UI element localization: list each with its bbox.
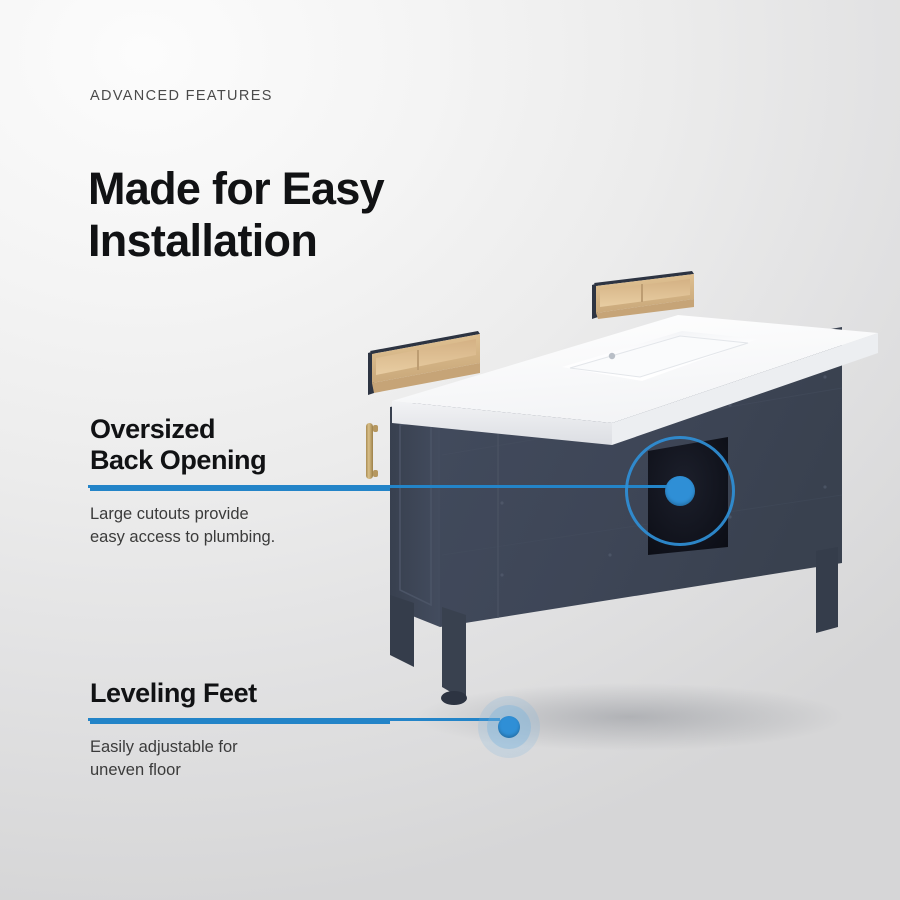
leg-back-right [816, 547, 838, 633]
callout-oversized-back-opening: Oversized Back Opening Large cutouts pro… [90, 414, 390, 549]
leveling-foot [441, 691, 467, 705]
infographic-canvas: ADVANCED FEATURES Made for Easy Installa… [0, 0, 900, 900]
callout-leveling-feet: Leveling Feet Easily adjustable for unev… [90, 678, 390, 782]
product-illustration [330, 255, 890, 775]
leg-front-left [390, 595, 414, 667]
callout-rule [90, 488, 390, 491]
marker-leveling-feet[interactable] [472, 690, 546, 764]
sink-overflow-hole [609, 353, 615, 359]
drawer-right [592, 271, 694, 319]
callout-title: Leveling Feet [90, 678, 390, 709]
eyebrow-label: ADVANCED FEATURES [90, 88, 273, 104]
callout-body: Easily adjustable for uneven floor [90, 736, 390, 782]
marker-dot-icon [665, 476, 695, 506]
cabinet-side-panel [390, 398, 440, 627]
leg-back-left [442, 607, 466, 701]
marker-back-opening[interactable] [619, 430, 741, 552]
callout-title: Oversized Back Opening [90, 414, 390, 476]
page-title: Made for Easy Installation [88, 163, 384, 267]
callout-rule [90, 721, 390, 724]
marker-dot-icon [498, 716, 520, 738]
callout-body: Large cutouts provide easy access to plu… [90, 503, 390, 549]
